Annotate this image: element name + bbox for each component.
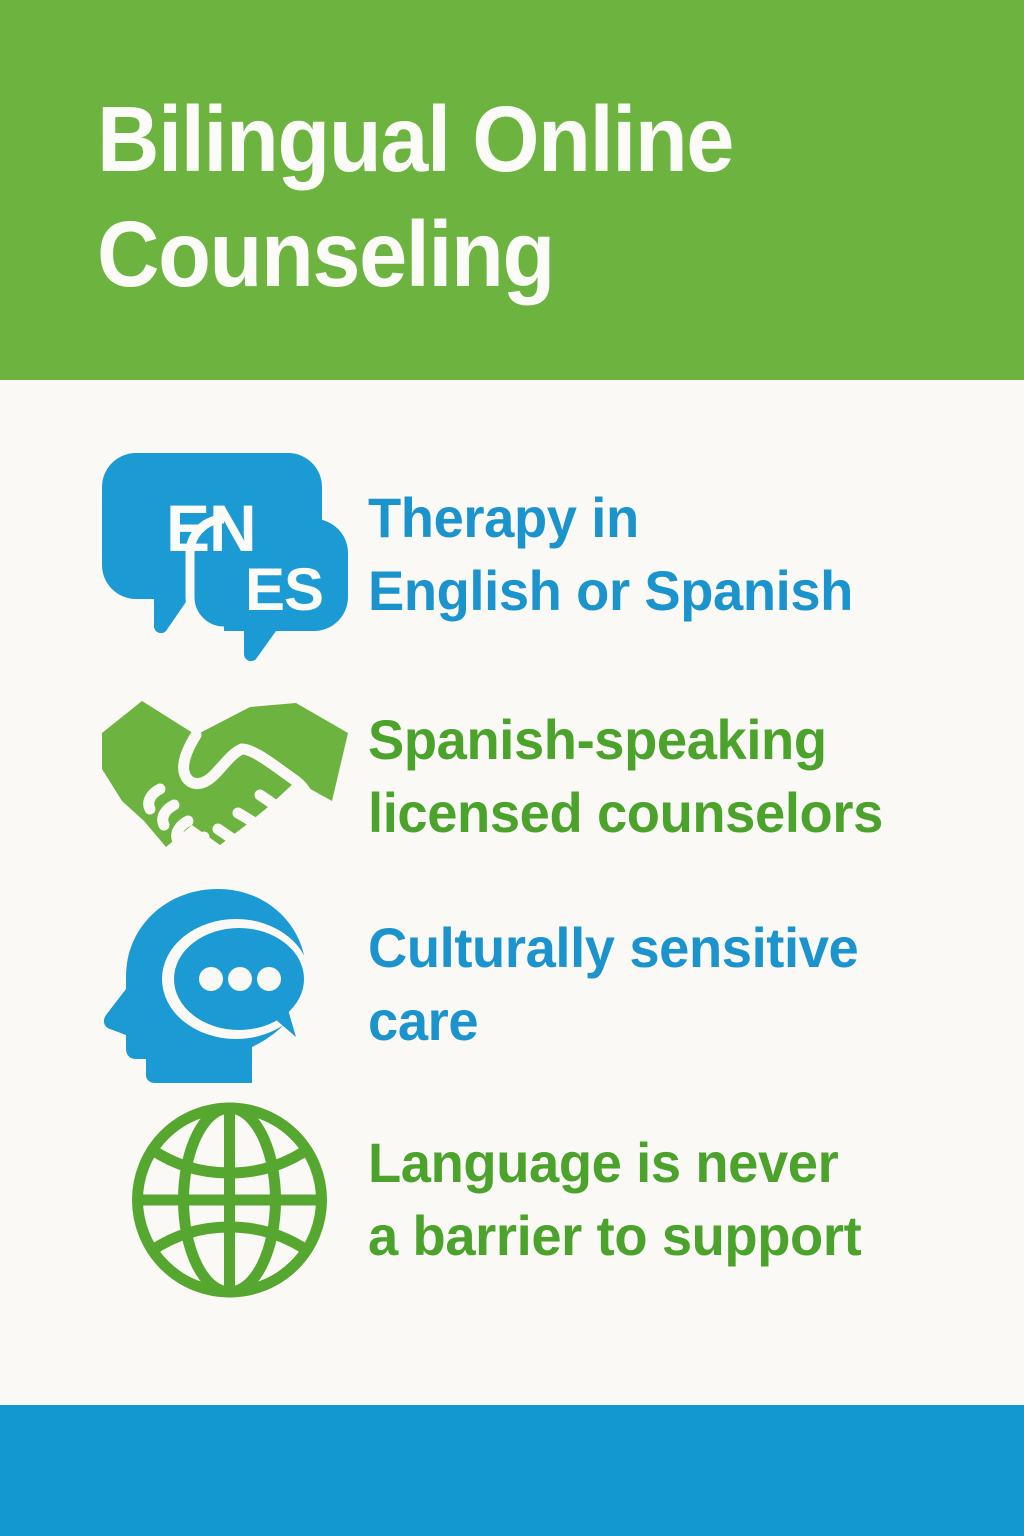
feature-row-language-barrier: Language is never a barrier to support	[0, 1092, 1024, 1307]
icon-slot	[100, 1100, 368, 1300]
page-title: Bilingual Online Counseling	[97, 82, 875, 313]
feature-row-culturally-sensitive: Culturally sensitive care	[0, 877, 1024, 1092]
feature-row-therapy-language: EN ES Therapy in English or Spanish	[0, 432, 1024, 677]
feature-text: Culturally sensitive care	[368, 912, 858, 1058]
icon-slot	[100, 885, 368, 1085]
features-list: EN ES Therapy in English or Spanish	[0, 380, 1024, 1405]
feature-text: Language is never a barrier to support	[368, 1127, 861, 1273]
feature-row-spanish-counselors: Spanish-speaking licensed counselors	[0, 677, 1024, 877]
globe-icon	[122, 1100, 337, 1300]
bubble-label-es: ES	[245, 556, 323, 623]
feature-text: Spanish-speaking licensed counselors	[368, 704, 883, 850]
icon-slot: EN ES	[100, 445, 368, 665]
feature-text: Therapy in English or Spanish	[368, 482, 853, 628]
handshake-icon	[100, 697, 350, 857]
speech-bubbles-en-es-icon: EN ES	[100, 445, 352, 665]
header-band: Bilingual Online Counseling	[0, 0, 1024, 380]
bubble-label-en: EN	[166, 491, 256, 565]
poster-canvas: Bilingual Online Counseling EN ES Therap…	[0, 0, 1024, 1536]
icon-slot	[100, 697, 368, 857]
footer-band	[0, 1405, 1024, 1536]
head-speech-bubble-icon	[100, 885, 330, 1085]
